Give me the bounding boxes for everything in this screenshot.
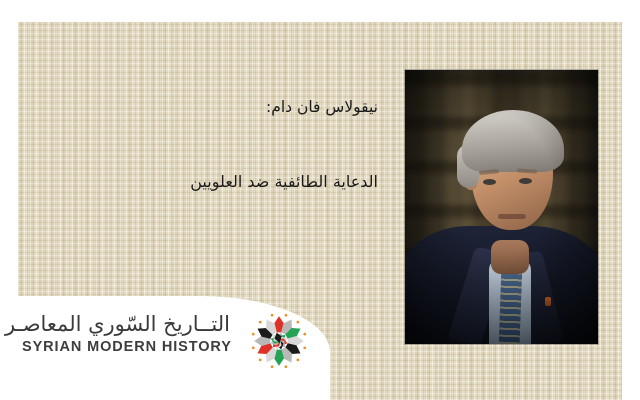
headline-speaker: نيقولاس فان دام:	[78, 96, 378, 118]
rosette-logo-icon	[248, 310, 310, 372]
headline-block: نيقولاس فان دام: الدعاية الطائفية ضد الع…	[78, 96, 378, 194]
portrait-photo	[405, 70, 598, 344]
brand-logo-text: التــاريخ السّوري المعاصـر SYRIAN MODERN…	[22, 312, 230, 355]
brand-name-english: SYRIAN MODERN HISTORY	[22, 339, 230, 355]
social-card: نيقولاس فان دام: الدعاية الطائفية ضد الع…	[0, 0, 640, 400]
brand-logo[interactable]: التــاريخ السّوري المعاصـر SYRIAN MODERN…	[22, 310, 322, 374]
headline-title: الدعاية الطائفية ضد العلويين	[78, 170, 378, 193]
brand-name-arabic: التــاريخ السّوري المعاصـر	[22, 312, 230, 336]
photo-vignette	[405, 70, 598, 344]
